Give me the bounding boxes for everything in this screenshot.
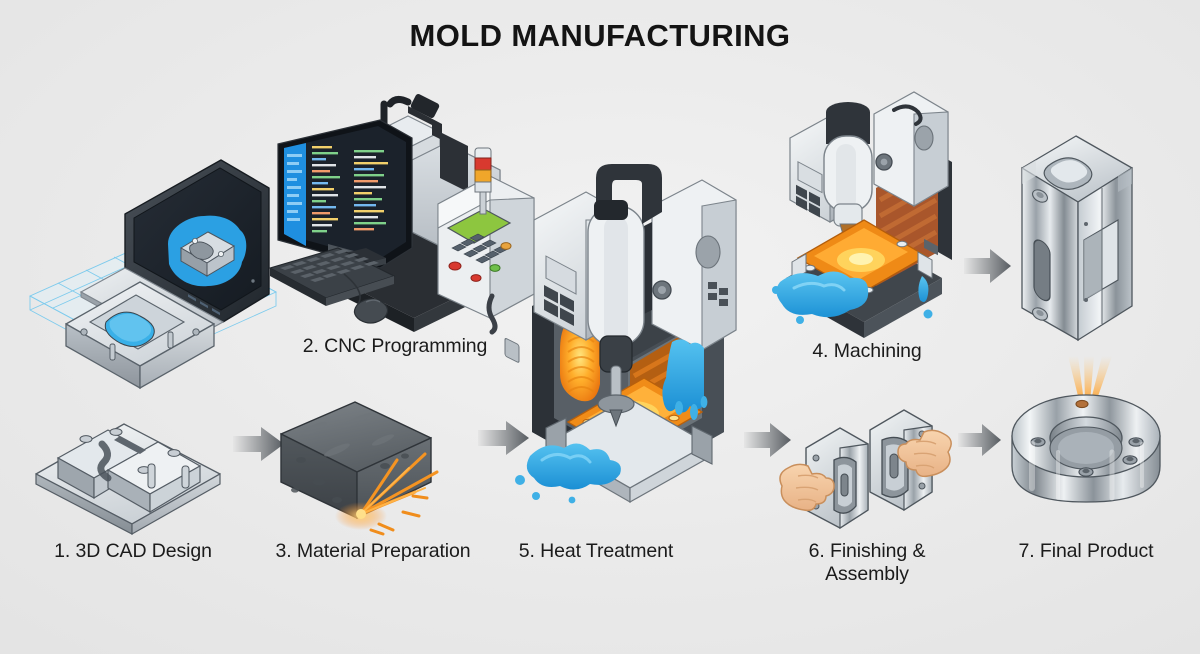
furnace-quench-icon xyxy=(512,160,744,510)
step-1-mold-base-illustration xyxy=(24,398,234,528)
step-1-illustration xyxy=(18,96,288,356)
step-2-illustration xyxy=(262,96,552,336)
desktop-cnc-controller-icon xyxy=(262,96,552,336)
infographic-canvas: MOLD MANUFACTURING xyxy=(0,0,1200,654)
step-4-caption: 4. Machining xyxy=(772,340,962,363)
machined-block-illustration xyxy=(1012,128,1142,354)
laptop-cad-wireframe-mold-icon xyxy=(18,96,288,356)
coolant-splash xyxy=(515,443,621,503)
step-1-caption: 1. 3D CAD Design xyxy=(18,540,248,563)
hands-mold-halves-icon xyxy=(772,390,958,532)
webcam-icon xyxy=(251,279,254,282)
polished-flange-ring-icon xyxy=(990,356,1182,532)
step-7-illustration xyxy=(990,356,1182,532)
step-2-caption: 2. CNC Programming xyxy=(278,335,512,358)
step-5-caption: 5. Heat Treatment xyxy=(500,540,692,563)
mold-base-assembly-icon xyxy=(24,398,234,528)
page-title-text: MOLD MANUFACTURING xyxy=(410,18,791,53)
machined-mold-block-icon xyxy=(1012,128,1142,354)
step-3-caption: 3. Material Preparation xyxy=(255,540,491,563)
page-title: MOLD MANUFACTURING xyxy=(0,18,1200,54)
step-4-illustration xyxy=(772,92,962,342)
step-7-caption: 7. Final Product xyxy=(990,540,1182,563)
step-6-illustration xyxy=(772,390,958,532)
step-6-caption: 6. Finishing & Assembly xyxy=(772,540,962,585)
steel-block-sparks-icon xyxy=(275,396,485,536)
cnc-mill-coolant-icon xyxy=(772,92,962,342)
arrow-4-to-product xyxy=(962,246,1014,286)
step-5-illustration xyxy=(512,160,744,510)
step-3-illustration xyxy=(275,396,485,536)
